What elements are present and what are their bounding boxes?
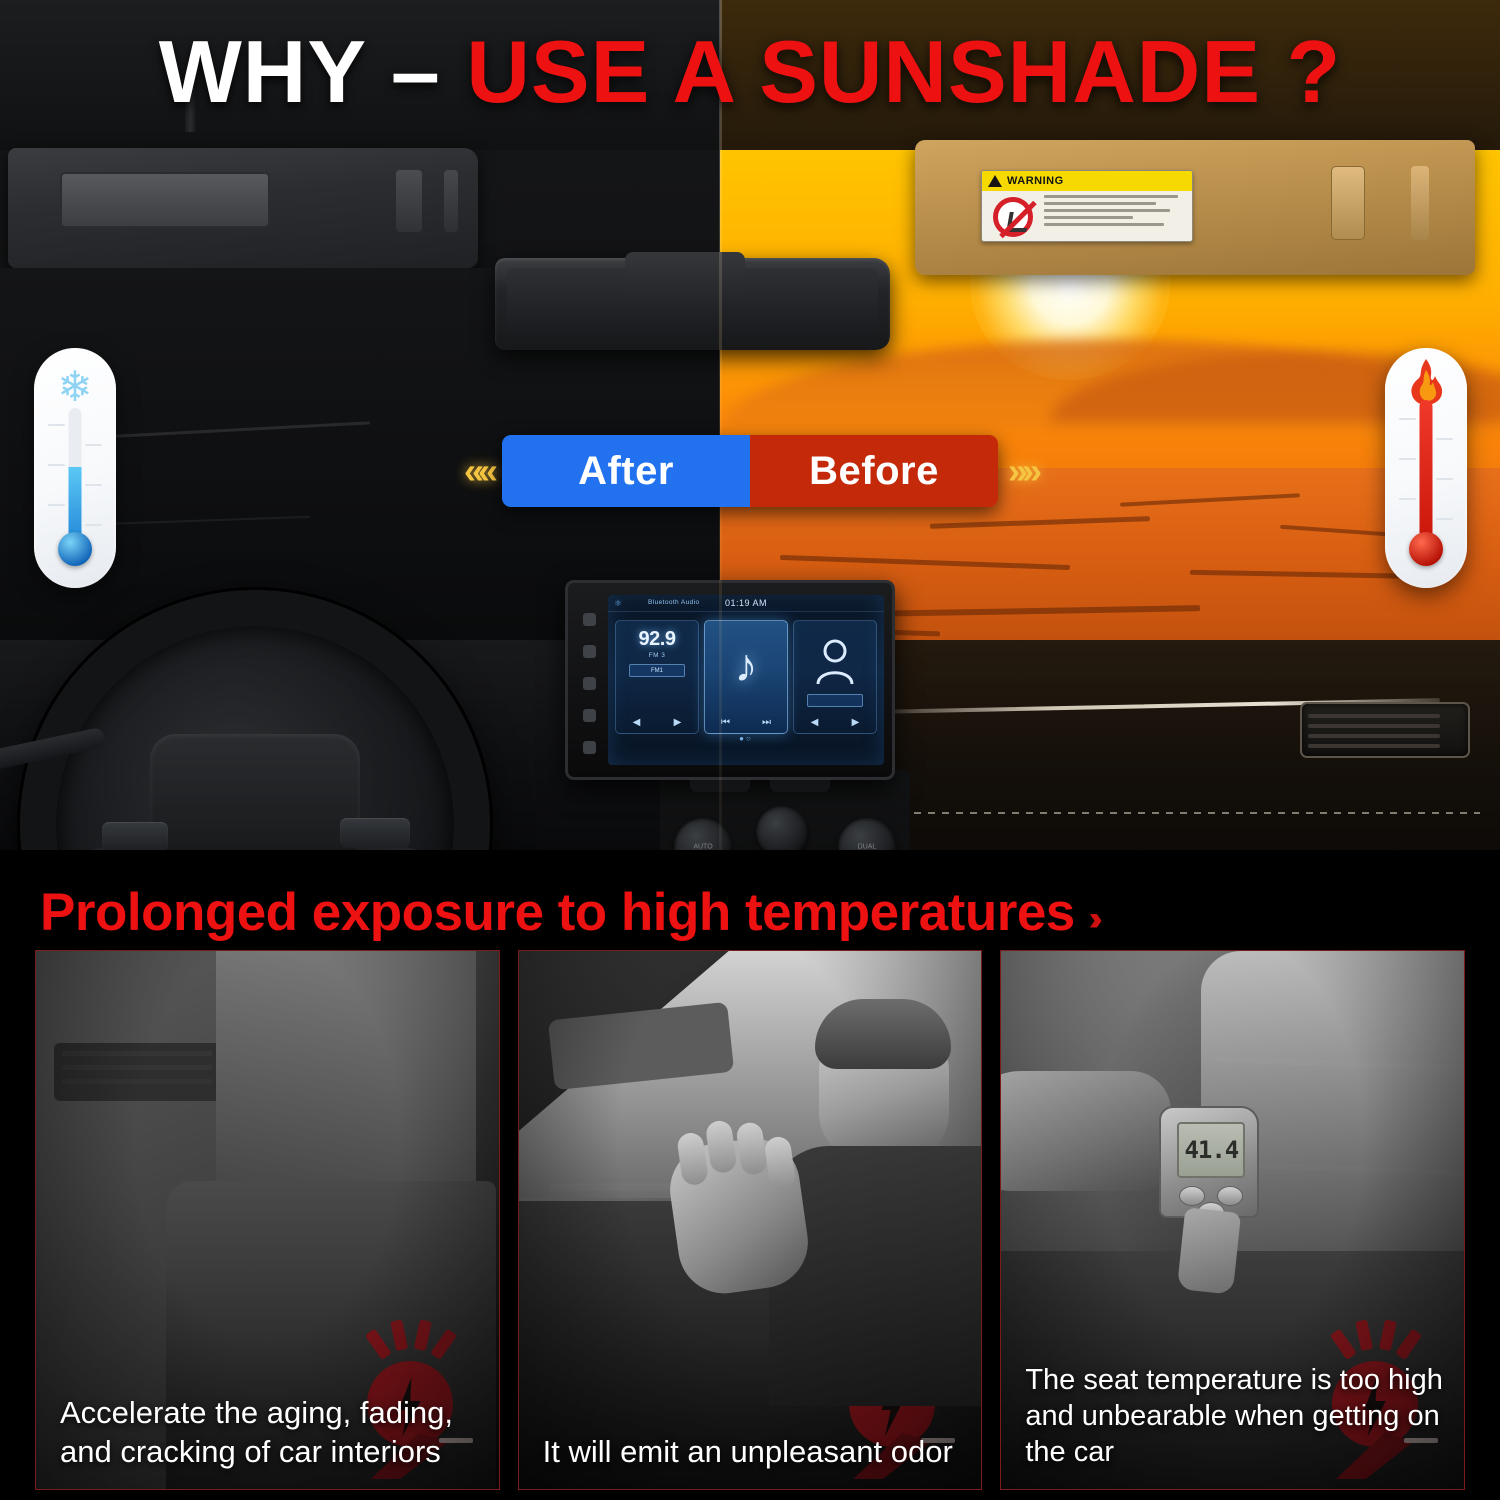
profile-chip[interactable] (807, 694, 863, 707)
media-skip-back-icon[interactable]: ⏮ (721, 717, 730, 728)
media-tile[interactable]: ♪ ⏮ ⏭ (704, 620, 788, 734)
warning-label-title: WARNING (1007, 175, 1064, 187)
heading-chevrons-icon: ››› (1089, 900, 1093, 939)
music-note-icon: ♪ (735, 642, 758, 688)
radio-tune-controls[interactable]: ◀ ▶ (616, 717, 698, 728)
thermometer-reading: 41.4 (1184, 1136, 1238, 1164)
cold-thermometer-bulb (58, 532, 92, 566)
visor-clip-right (1331, 166, 1365, 240)
before-badge[interactable]: Before (750, 435, 998, 507)
section-heading: Prolonged exposure to high temperatures … (40, 882, 1093, 943)
infrared-thermometer-gun: 41.4 (1151, 1106, 1269, 1286)
card-odor: It will emit an unpleasant odor (518, 950, 983, 1490)
thermometer-button-right[interactable] (1217, 1186, 1243, 1206)
sun-visor-right: WARNING (915, 140, 1475, 275)
profile-tile[interactable]: ◀ ▶ (793, 620, 877, 734)
audio-source-label: Bluetooth Audio (648, 599, 700, 606)
wheel-button-cluster-right[interactable] (340, 818, 410, 848)
infotainment-head-unit[interactable]: ⚛ Bluetooth Audio 01:19 AM 92.9 FM 3 FM1… (565, 580, 895, 780)
product-infographic: WARNING (0, 0, 1500, 1500)
air-vent-icon (1300, 702, 1470, 758)
hand-holding-thermometer (1000, 1071, 1171, 1191)
snowflake-icon: ❄ (57, 366, 92, 408)
head-unit-side-buttons[interactable] (576, 603, 602, 763)
thermometer-display: 41.4 (1177, 1122, 1245, 1178)
head-unit-button-volume[interactable] (583, 677, 596, 690)
user-profile-icon (814, 638, 856, 689)
page-indicator-dots[interactable]: ●○ (608, 734, 884, 743)
radio-band-label: FM 3 (649, 652, 665, 659)
dashboard-stitching (900, 812, 1480, 814)
warning-label-header: WARNING (982, 171, 1192, 191)
thermometer-grip (1177, 1207, 1241, 1294)
infotainment-status-bar: ⚛ Bluetooth Audio 01:19 AM (608, 595, 884, 612)
card-caption: It will emit an unpleasant odor (543, 1433, 964, 1471)
media-skip-forward-icon[interactable]: ⏭ (762, 717, 771, 728)
card-caption: Accelerate the aging, fading, and cracki… (60, 1394, 481, 1471)
warning-label-text-lines (1044, 191, 1192, 242)
rearview-mirror (495, 258, 890, 350)
warning-label-body (982, 191, 1192, 242)
thermometer-body: 41.4 (1159, 1106, 1259, 1218)
warning-triangle-icon (988, 175, 1002, 187)
visor-clip (396, 170, 422, 232)
radio-frequency-value: 92.9 (639, 628, 676, 651)
head-unit-button-home[interactable] (583, 645, 596, 658)
head-unit-button-power[interactable] (583, 613, 596, 626)
chevron-left-icon: «« (464, 450, 492, 492)
profile-next-icon[interactable]: ▶ (852, 717, 860, 728)
after-badge[interactable]: After (502, 435, 750, 507)
rearview-mirror-housing (625, 252, 745, 314)
visor-vanity-mirror (60, 172, 270, 228)
chevron-right-icon: »» (1008, 450, 1036, 492)
bluetooth-icon: ⚛ (614, 598, 622, 609)
head-unit-button-seek[interactable] (583, 709, 596, 722)
radio-next-icon[interactable]: ▶ (674, 717, 682, 728)
card-seat-temperature: 41.4 (1000, 950, 1465, 1490)
thermometer-button-left[interactable] (1179, 1186, 1205, 1206)
clock-label: 01:19 AM (725, 598, 767, 608)
page-title: WHY – USE A SUNSHADE ? (0, 28, 1500, 116)
hot-thermometer-bulb (1409, 532, 1443, 566)
wheel-button-cluster-left[interactable] (102, 822, 168, 852)
radio-tile[interactable]: 92.9 FM 3 FM1 ◀ ▶ (615, 620, 699, 734)
card-caption: The seat temperature is too high and unb… (1025, 1363, 1446, 1471)
consequences-section: Prolonged exposure to high temperatures … (0, 850, 1500, 1500)
no-child-seat-icon (982, 191, 1044, 242)
head-unit-button-menu[interactable] (583, 741, 596, 754)
sun-visor-left (8, 148, 478, 268)
driver-torso (769, 1146, 983, 1406)
airbag-warning-label: WARNING (981, 170, 1193, 242)
profile-prev-icon[interactable]: ◀ (811, 717, 819, 728)
infotainment-screen[interactable]: ⚛ Bluetooth Audio 01:19 AM 92.9 FM 3 FM1… (608, 595, 884, 765)
radio-prev-icon[interactable]: ◀ (633, 717, 641, 728)
visor-clip-secondary (444, 170, 458, 232)
media-transport-controls[interactable]: ⏮ ⏭ (705, 717, 787, 728)
profile-nav-controls[interactable]: ◀ ▶ (794, 717, 876, 728)
section-heading-text: Prolonged exposure to high temperatures (40, 882, 1075, 943)
title-use-a-sunshade: USE A SUNSHADE ? (466, 22, 1341, 121)
badge-group: After Before (502, 435, 998, 507)
consequence-cards: Accelerate the aging, fading, and cracki… (35, 950, 1465, 1490)
visor-clip-right-secondary (1411, 166, 1429, 240)
title-dash: – (391, 22, 441, 121)
title-why: WHY (159, 22, 366, 121)
driver-raised-hand (664, 1133, 814, 1300)
before-after-badges: «« After Before »» (0, 432, 1500, 510)
card-aging: Accelerate the aging, fading, and cracki… (35, 950, 500, 1490)
radio-preset-chip[interactable]: FM1 (629, 664, 685, 677)
infotainment-tiles: 92.9 FM 3 FM1 ◀ ▶ ♪ ⏮ ⏭ (608, 612, 884, 734)
driver-hair (815, 999, 951, 1069)
